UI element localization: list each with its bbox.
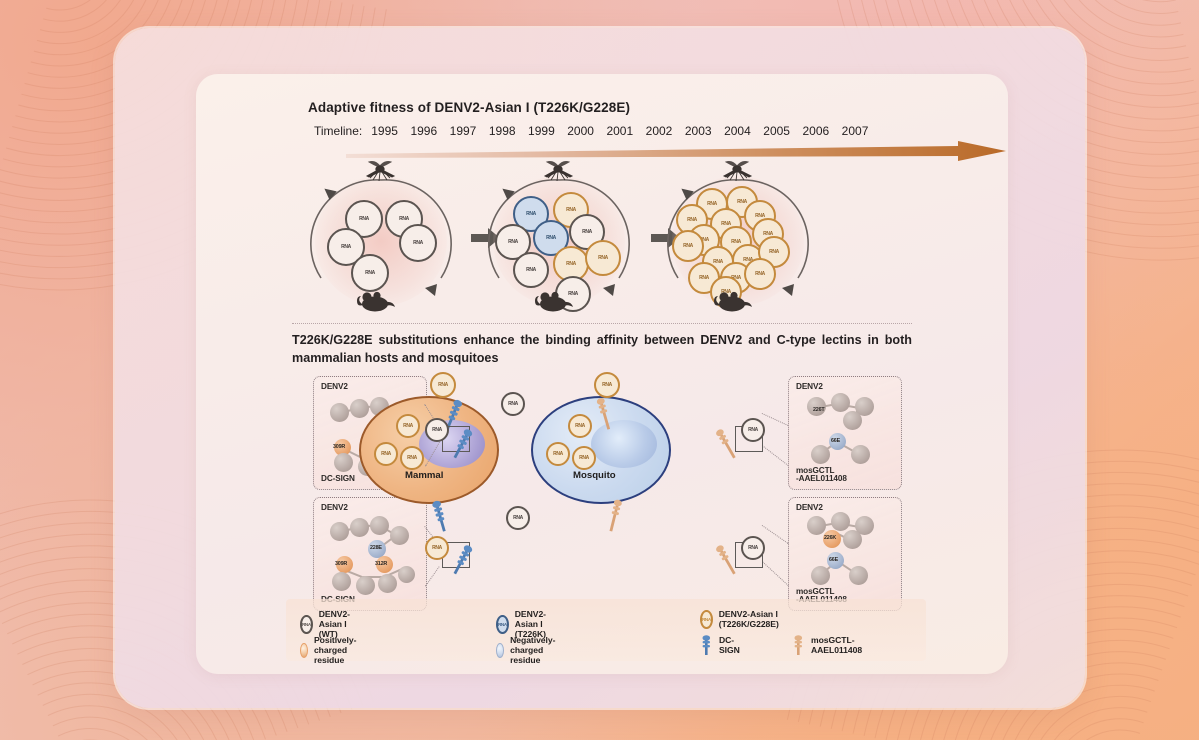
timeline: Timeline: 199519961997199819992000200120… [314, 124, 974, 138]
virion-wt: RNA [399, 224, 437, 262]
legend-item: mosGCTL-AAEL011408 [792, 635, 862, 655]
legend-item: Positively-charged residue [300, 635, 363, 665]
virion-t226k-g228e: RNA [425, 536, 449, 560]
residue-sphere [350, 518, 369, 537]
virion-glyph: RNA [546, 236, 556, 241]
virion-t226k-g228e: RNA [374, 442, 398, 466]
timeline-arrow [346, 140, 1006, 162]
virion-glyph: RNA [526, 268, 536, 273]
virion-glyph: RNA [413, 241, 423, 246]
timeline-year: 1999 [528, 124, 555, 138]
callout-leader-line [762, 561, 789, 586]
legend-label: Negatively-charged residue [510, 635, 562, 665]
rodent-silhouette-icon [712, 288, 756, 319]
residue-sphere [370, 516, 389, 535]
residue-sphere [378, 574, 397, 593]
residue-sphere [849, 566, 868, 585]
residue-tag: 226K [824, 535, 836, 541]
structure-box-mosquito-mutant: DENV2 mosGCTL -AAEL011408 226K66E [788, 497, 902, 611]
timeline-year: 2006 [802, 124, 829, 138]
scientific-figure: Adaptive fitness of DENV2-Asian I (T226K… [196, 74, 1008, 674]
virion-glyph: RNA [432, 546, 442, 551]
residue-sphere [807, 516, 826, 535]
rodent-silhouette-icon [355, 288, 399, 319]
virion-glyph: RNA [566, 208, 576, 213]
virion-glyph: RNA [731, 240, 741, 245]
virion-glyph: RNA [683, 244, 693, 249]
timeline-year: 1996 [410, 124, 437, 138]
residue-tag: 309R [333, 444, 345, 450]
virion-t226k-g228e: RNA [546, 442, 570, 466]
virion-t226k-icon: RNA [496, 615, 509, 634]
virion-t226k-g228e-icon: RNA [700, 610, 713, 629]
callout-leader-line [762, 525, 789, 544]
virion-ke: RNA [585, 240, 621, 276]
virion-glyph: RNA [513, 516, 523, 521]
virion-glyph: RNA [359, 217, 369, 222]
residue-tag: 66E [829, 557, 838, 563]
virion-t226k-g228e: RNA [430, 372, 456, 398]
virion-glyph: RNA [341, 245, 351, 250]
figure-legend: RNADENV2-Asian I (WT)RNADENV2-Asian I (T… [286, 599, 926, 661]
timeline-year: 2001 [606, 124, 633, 138]
mammal-cell-label: Mammal [405, 470, 443, 481]
structure-label-denv2: DENV2 [321, 382, 348, 391]
virion-glyph: RNA [602, 383, 612, 388]
structure-label-denv2: DENV2 [321, 503, 348, 512]
virion-glyph: RNA [755, 272, 765, 277]
timeline-year: 2005 [763, 124, 790, 138]
dc-sign-icon [700, 635, 713, 655]
virion-glyph: RNA [579, 456, 589, 461]
residue-tag: 228E [370, 545, 382, 551]
mosquito-nucleus [591, 420, 657, 468]
positive-residue-icon [300, 643, 308, 658]
mosgctl-icon [792, 635, 805, 655]
virion-glyph: RNA [769, 250, 779, 255]
virion-glyph: RNA [748, 428, 758, 433]
virion-glyph: RNA [302, 622, 311, 627]
residue-sphere [356, 576, 375, 595]
section-divider [292, 323, 912, 325]
structure-box-mammal-mutant: DENV2 DC-SIGN 228E309R312R [313, 497, 427, 611]
figure-title: Adaptive fitness of DENV2-Asian I (T226K… [308, 100, 630, 115]
virion-glyph: RNA [721, 222, 731, 227]
transmission-cycle-late: RNARNARNARNARNARNARNARNARNARNARNARNARNAR… [658, 166, 818, 316]
virion-t226k-g228e: RNA [568, 414, 592, 438]
virion-glyph: RNA [498, 622, 507, 627]
residue-tag: 312R [375, 561, 387, 567]
virion-ke: RNA [741, 536, 765, 560]
legend-item: RNADENV2-Asian I (T226K/G228E) [700, 609, 785, 629]
residue-sphere [831, 512, 850, 531]
virion-glyph: RNA [566, 262, 576, 267]
mosquito-cell-label: Mosquito [573, 470, 616, 481]
virion-ke: RNA [744, 258, 776, 290]
residue-tag: 66E [831, 438, 840, 444]
residue-sphere [843, 530, 862, 549]
legend-label: DC-SIGN [719, 635, 740, 655]
mosquito-silhouette-icon [363, 160, 397, 187]
virion-glyph: RNA [526, 212, 536, 217]
timeline-year: 2007 [842, 124, 869, 138]
timeline-year: 2004 [724, 124, 751, 138]
virion-glyph: RNA [432, 428, 442, 433]
virion-glyph: RNA [713, 260, 723, 265]
virion-t226k-g228e: RNA [396, 414, 420, 438]
timeline-year: 1997 [450, 124, 477, 138]
transmission-cycle-early: RNARNARNARNARNA [301, 166, 461, 316]
rodent-silhouette-icon [533, 288, 577, 319]
virion-wt: RNA [513, 252, 549, 288]
virion-glyph: RNA [699, 276, 709, 281]
residue-sphere [851, 445, 870, 464]
virion-glyph: RNA [687, 218, 697, 223]
transmission-cycle-middle: RNARNARNARNARNARNARNARNARNA [479, 166, 639, 316]
virion-glyph: RNA [582, 230, 592, 235]
residue-sphere [350, 399, 369, 418]
structure-label-receptor: DC-SIGN [321, 475, 355, 484]
virion-glyph: RNA [702, 617, 711, 622]
virion-glyph: RNA [365, 271, 375, 276]
legend-item: Negatively-charged residue [496, 635, 562, 665]
residue-sphere [330, 403, 349, 422]
virion-glyph: RNA [575, 424, 585, 429]
virion-wt: RNA [351, 254, 389, 292]
legend-item: DC-SIGN [700, 635, 740, 655]
residue-sphere [334, 453, 353, 472]
residue-sphere [831, 393, 850, 412]
timeline-year: 1998 [489, 124, 516, 138]
residue-tag: 226T [813, 407, 825, 413]
timeline-years: 1995199619971998199920002001200220032004… [371, 124, 868, 138]
timeline-year: 2003 [685, 124, 712, 138]
virion-glyph: RNA [737, 200, 747, 205]
structure-label-denv2: DENV2 [796, 503, 823, 512]
structure-label-denv2: DENV2 [796, 382, 823, 391]
timeline-year: 2000 [567, 124, 594, 138]
mosquito-silhouette-icon [720, 160, 754, 187]
mosquito-silhouette-icon [541, 160, 575, 187]
timeline-year: 1995 [371, 124, 398, 138]
dc-sign-receptor [429, 498, 451, 539]
virion-glyph: RNA [553, 452, 563, 457]
negative-residue-icon [496, 643, 504, 658]
virion-wt: RNA [506, 506, 530, 530]
legend-label: Positively-charged residue [314, 635, 363, 665]
callout-leader-line [425, 566, 440, 587]
residue-sphere [811, 445, 830, 464]
legend-label: DENV2-Asian I (T226K/G228E) [719, 609, 785, 629]
virion-glyph: RNA [598, 256, 608, 261]
callout-leader-line [762, 413, 788, 426]
virion-glyph: RNA [399, 217, 409, 222]
virion-glyph: RNA [748, 546, 758, 551]
virion-glyph: RNA [438, 383, 448, 388]
timeline-year: 2002 [646, 124, 673, 138]
virion-wt: RNA [501, 392, 525, 416]
residue-sphere [811, 566, 830, 585]
virion-ke: RNA [672, 230, 704, 262]
residue-sphere [398, 566, 415, 583]
structure-box-mosquito-wt: DENV2 mosGCTL -AAEL011408 226T66E [788, 376, 902, 490]
virion-glyph: RNA [381, 452, 391, 457]
callout-leader-line [762, 445, 789, 466]
virion-glyph: RNA [508, 402, 518, 407]
residue-sphere [330, 522, 349, 541]
virion-t226k-g228e: RNA [572, 446, 596, 470]
section-heading: T226K/G228E substitutions enhance the bi… [292, 332, 912, 368]
residue-sphere [843, 411, 862, 430]
structure-label-receptor: mosGCTL -AAEL011408 [796, 467, 847, 484]
residue-tag: 309R [335, 561, 347, 567]
virion-glyph: RNA [407, 456, 417, 461]
receptor-name-line2: -AAEL011408 [796, 475, 847, 484]
virion-t226k-g228e: RNA [594, 372, 620, 398]
legend-label: mosGCTL-AAEL011408 [811, 635, 862, 655]
virion-wt: RNA [741, 418, 765, 442]
timeline-label: Timeline: [314, 124, 362, 138]
residue-sphere [390, 526, 409, 545]
virion-wt: RNA [425, 418, 449, 442]
virion-glyph: RNA [707, 202, 717, 207]
virion-t226k-g228e: RNA [400, 446, 424, 470]
virion-glyph: RNA [403, 424, 413, 429]
virion-wt-icon: RNA [300, 615, 313, 634]
residue-sphere [332, 572, 351, 591]
mosgctl-receptor [604, 498, 624, 539]
virion-glyph: RNA [508, 240, 518, 245]
